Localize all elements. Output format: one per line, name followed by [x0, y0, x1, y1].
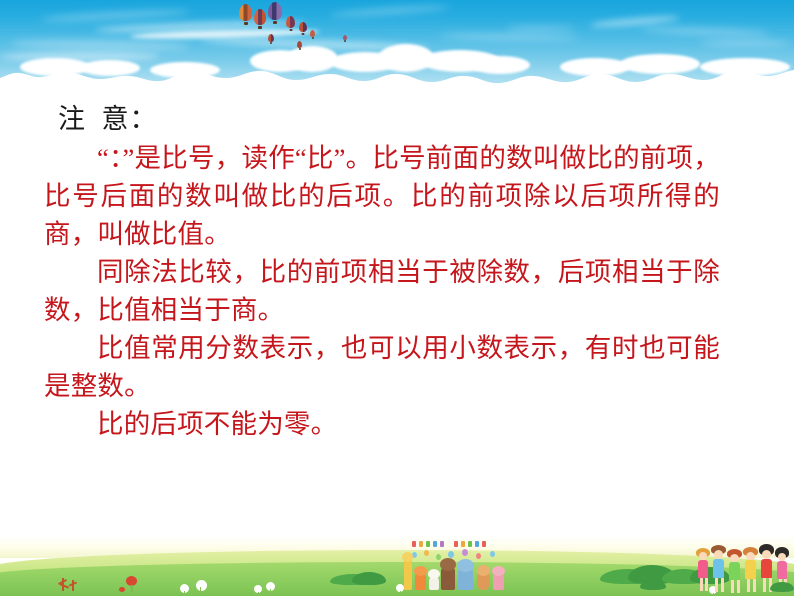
pig-head — [492, 566, 505, 576]
cloud-streak — [440, 33, 580, 41]
kid-leg — [715, 578, 718, 592]
bunting-flag — [475, 541, 479, 547]
sky-banner — [0, 0, 794, 96]
bunting-flag — [440, 541, 444, 547]
cloud-streak — [505, 26, 575, 31]
bunting-flag — [461, 541, 465, 547]
balloon-basket — [312, 37, 314, 39]
decor-dot — [424, 550, 429, 556]
bear-head — [440, 558, 456, 571]
bunting-flag — [433, 541, 437, 547]
balloon-envelope — [268, 2, 282, 20]
balloon-envelope — [268, 34, 274, 42]
kid-1 — [696, 548, 710, 594]
red-flower — [119, 587, 125, 592]
kid-leg — [763, 578, 766, 592]
note-body: “：”是比号，读作“比”。比号前面的数叫做比的前项，比号后面的数叫做比的后项。比… — [44, 139, 720, 443]
kid-3 — [727, 549, 742, 594]
kid-leg — [721, 578, 724, 592]
flower-stem — [200, 587, 201, 595]
hot-air-balloon — [239, 4, 252, 25]
kid-face — [778, 553, 786, 561]
bush — [352, 572, 386, 585]
hot-air-balloon — [268, 34, 274, 44]
hot-air-balloon — [268, 2, 282, 24]
torn-cloud-edge — [0, 56, 794, 96]
cloud-streak — [640, 26, 770, 38]
kid-shirt — [729, 562, 740, 580]
kid-leg — [747, 579, 750, 592]
dandelion — [180, 584, 189, 593]
bunting-flag — [412, 541, 416, 547]
balloon-envelope — [299, 22, 307, 32]
kid-leg — [705, 578, 708, 591]
balloon-basket — [302, 33, 305, 35]
balloon-basket — [270, 42, 272, 44]
balloon-basket — [344, 40, 346, 42]
meadow-decoration — [0, 536, 794, 596]
kid-leg — [753, 579, 756, 592]
bunting-flag — [426, 541, 430, 547]
balloon-envelope — [297, 41, 302, 48]
kid-leg — [731, 580, 734, 593]
bunting-flag — [454, 541, 458, 547]
kid-face — [762, 550, 771, 559]
balloon-basket — [244, 22, 248, 25]
balloon-envelope — [310, 30, 315, 37]
slide-canvas: 注 意： “：”是比号，读作“比”。比号前面的数叫做比的前项，比号后面的数叫做比… — [0, 0, 794, 596]
note-paragraph-1: “：”是比号，读作“比”。比号前面的数叫做比的前项，比号后面的数叫做比的后项。比… — [44, 139, 720, 253]
cloud-streak — [10, 38, 190, 51]
flower-stem — [270, 589, 271, 596]
cloud-streak — [700, 40, 790, 46]
hot-air-balloon — [254, 9, 266, 29]
fox-head — [414, 566, 427, 576]
decor-dot — [436, 554, 441, 560]
note-paragraph-4: 比的后项不能为零。 — [44, 405, 720, 443]
hot-air-balloon — [299, 22, 307, 35]
hot-air-balloon — [297, 41, 302, 50]
grass-tuft — [640, 580, 666, 590]
balloon-basket — [273, 21, 277, 24]
bunting-flag — [419, 541, 423, 547]
hot-air-balloon — [310, 30, 315, 39]
cloud-streak — [40, 8, 190, 23]
note-paragraph-3: 比值常用分数表示，也可以用小数表示，有时也可能是整数。 — [44, 329, 720, 405]
balloon-basket — [258, 26, 262, 29]
dandelion — [196, 580, 207, 591]
cloud-streak — [330, 4, 450, 18]
flower-stem — [131, 585, 133, 592]
balloon-basket — [289, 29, 292, 31]
kid-leg — [737, 580, 740, 593]
hot-air-balloon — [286, 16, 295, 31]
flower-stem — [258, 592, 259, 596]
balloon-envelope — [286, 16, 295, 28]
balloon-basket — [299, 48, 301, 50]
kid-shirt — [761, 559, 772, 578]
dandelion — [266, 582, 275, 591]
flower-stem — [184, 591, 185, 596]
kid-4 — [743, 547, 758, 594]
grass-tuft — [770, 582, 794, 592]
balloon-envelope — [254, 9, 266, 25]
page-title: 注 意： — [58, 105, 158, 133]
decor-dot — [462, 549, 468, 556]
cartoon-animal-group — [400, 540, 516, 596]
bunting-flag — [482, 541, 486, 547]
kid-shirt — [777, 561, 787, 579]
hot-air-balloon — [343, 35, 347, 42]
kid-shirt — [713, 559, 724, 578]
kid-leg — [700, 578, 703, 591]
kid-shirt — [745, 560, 756, 579]
bunting-banner — [410, 541, 510, 549]
note-paragraph-2: 同除法比较，比的前项相当于被除数，后项相当于除数，比值相当于商。 — [44, 253, 720, 329]
bunting-flag — [468, 541, 472, 547]
giraffe-head — [402, 552, 413, 562]
decor-dot — [490, 551, 495, 557]
dandelion — [254, 585, 262, 593]
content-area: 注 意： “：”是比号，读作“比”。比号前面的数叫做比的前项，比号后面的数叫做比… — [0, 96, 794, 516]
decor-dot — [448, 551, 454, 558]
balloon-envelope — [239, 4, 252, 21]
decor-dot — [476, 553, 481, 559]
kid-face — [699, 552, 707, 560]
owl-head — [477, 565, 490, 576]
kid-2 — [711, 545, 726, 594]
rabbit-head — [428, 569, 440, 579]
elephant-head — [457, 559, 474, 572]
kid-shirt — [698, 560, 708, 578]
kid-face — [714, 550, 723, 559]
